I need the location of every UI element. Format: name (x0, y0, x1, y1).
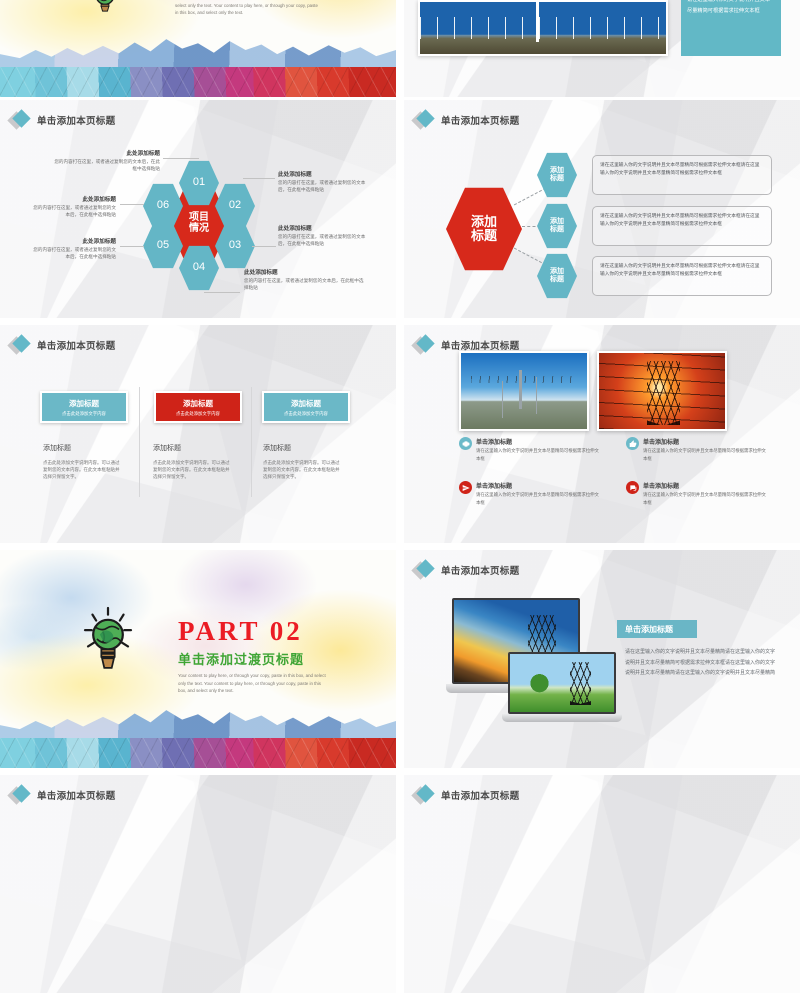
card-3[interactable]: 添加标题 点击此处添加文字内容 (262, 391, 350, 423)
column-2-title: 添加标题 (153, 443, 181, 453)
hexagon-node-01-number: 01 (193, 177, 205, 189)
hexagon-node-02-label: 此处添加标题 (278, 170, 370, 178)
callout-text-3: 请在这里输入你的文字说明并且文本尽量精简可根据需求拉伸文本框请在这里输入你的文字… (592, 256, 772, 296)
column-3-title: 添加标题 (263, 443, 291, 453)
part-subtitle: 单击添加过渡页标题 (178, 649, 304, 668)
slide-hexagon-wheel[interactable]: 单击添加本页标题 项目 情况 01 02 03 04 05 06 此处添加标题 … (0, 100, 396, 318)
card-2[interactable]: 添加标题 点击此处添加文字内容 (154, 391, 242, 423)
slide-top-left-english-body: Your content to play here, or through yo… (175, 0, 320, 17)
transmission-tower-graphic (570, 662, 591, 705)
column-1-title: 添加标题 (43, 443, 71, 453)
icon-row-2-heading: 单击添加标题 (643, 437, 766, 446)
part-english-body: Your content to play here, or through yo… (178, 672, 326, 695)
icon-row-3: 单击添加标题 请在这里输入你的文字说明并且文本尽量精简可根据需求拉伸文本框 (459, 481, 599, 507)
diamond-marker-icon (413, 109, 435, 131)
slide-top-right-teal-box: 请在这里输入你的文字说明并且文本尽量精简可根据需求拉伸文本框 (681, 0, 781, 56)
column-1-body: 点击此处添加文字说明内容。可以通过复制您的文本内容。在此文本框粘贴并选择只保留文… (43, 459, 123, 481)
icon-row-4-body: 请在这里输入你的文字说明并且文本尽量精简可根据需求拉伸文本框 (643, 491, 766, 507)
callout-text-2: 请在这里输入你的文字说明并且文本尽量精简可根据需求拉伸文本框请在这里输入你的文字… (592, 206, 772, 246)
slide-photos-icons[interactable]: 单击添加本页标题 单击添加标题 请在这里输入你的文字说明并且文本尽量精简可根据需… (404, 325, 800, 543)
icon-row-3-body: 请在这里输入你的文字说明并且文本尽量精简可根据需求拉伸文本框 (476, 491, 599, 507)
slide-bottom-left-partial[interactable]: 单击添加本页标题 (0, 775, 396, 993)
turbine-mast (536, 2, 539, 42)
hexagon-node-04-body: 您的内容打在这里，或者通过复制您的文本后，在此框中选择粘贴 (244, 278, 366, 292)
globe-lightbulb-icon (82, 605, 134, 679)
leader-line-03 (252, 246, 276, 247)
thumbs-up-icon (626, 437, 639, 450)
column-divider-2 (251, 387, 252, 497)
diamond-marker-icon (9, 784, 31, 806)
laptop-front-base (502, 714, 622, 722)
callout-hexagon-2-line1: 添加 (550, 218, 564, 226)
icon-row-1-heading: 单击添加标题 (476, 437, 599, 446)
slide-header: 单击添加本页标题 (413, 334, 519, 356)
part-number: PART 02 (178, 616, 303, 647)
slide-header: 单击添加本页标题 (9, 334, 115, 356)
slide-callouts[interactable]: 单击添加本页标题 添加 标题 添加 标题 添加 标题 添加 标题 请在这里输入你… (404, 100, 800, 318)
hexagon-node-03-label: 此处添加标题 (278, 224, 370, 232)
callout-text-1: 请在这里输入你的文字说明并且文本尽量精简可根据需求拉伸文本框请在这里输入你的文字… (592, 155, 772, 195)
slide-part-02-divider[interactable]: PART 02 单击添加过渡页标题 Your content to play h… (0, 550, 396, 768)
card-1-sub: 点击此处添加文字内容 (62, 411, 106, 417)
icon-row-4-heading: 单击添加标题 (643, 481, 766, 490)
diamond-marker-icon (413, 334, 435, 356)
slide-header: 单击添加本页标题 (413, 559, 519, 581)
page-title: 单击添加本页标题 (441, 338, 519, 352)
hexagon-node-05-body: 您的内容打在这里，或者通过复制您的文本后，在此框中选择粘贴 (30, 247, 116, 261)
callout-hexagon-2-line2: 标题 (550, 226, 564, 234)
diamond-marker-icon (9, 334, 31, 356)
wind-farm-photo (418, 0, 668, 56)
triangle-color-band (0, 67, 396, 97)
page-title: 单击添加本页标题 (37, 113, 115, 127)
card-1-heading: 添加标题 (69, 398, 99, 409)
polygon-background (0, 325, 396, 543)
column-3-body: 点击此处添加文字说明内容。可以通过复制您的文本内容。在此文本框粘贴并选择只保留文… (263, 459, 343, 481)
page-title: 单击添加本页标题 (441, 563, 519, 577)
diamond-marker-icon (9, 109, 31, 131)
hexagon-node-02-number: 02 (229, 200, 241, 212)
diamond-marker-icon (413, 784, 435, 806)
callout-hexagon-1-line2: 标题 (550, 175, 564, 183)
substation-photo (459, 351, 589, 431)
slide-header: 单击添加本页标题 (9, 784, 115, 806)
callout-hexagon-1-line1: 添加 (550, 167, 564, 175)
hexagon-node-05-number: 05 (157, 240, 169, 252)
diamond-marker-icon (413, 559, 435, 581)
laptop-title-box: 单击添加标题 (617, 620, 697, 638)
laptop-front-screen (508, 652, 616, 714)
column-divider-1 (139, 387, 140, 497)
hexagon-node-05-label: 此处添加标题 (30, 237, 116, 245)
leader-line-06 (120, 204, 144, 205)
gear-icon (459, 437, 472, 450)
hexagon-node-04-number: 04 (193, 262, 205, 274)
leader-line-05 (120, 246, 144, 247)
card-3-sub: 点击此处添加文字内容 (284, 411, 328, 417)
slide-header: 单击添加本页标题 (413, 109, 519, 131)
hexagon-node-06-number: 06 (157, 200, 169, 212)
card-3-heading: 添加标题 (291, 398, 321, 409)
icon-row-2-body: 请在这里输入你的文字说明并且文本尽量精简可根据需求拉伸文本框 (643, 447, 766, 463)
hexagon-node-02-body: 您的内容打在这里，或者通过复制您的文本后，在此框中选择粘贴 (278, 180, 370, 194)
triangle-color-band (0, 738, 396, 768)
callout-center-line1: 添加 (471, 215, 497, 229)
laptop-body-text: 请在这里输入你的文字说明并且文本尽量精简请在这里输入你的文字说明并且文本尽量精简… (625, 647, 775, 679)
callout-hexagon-3-line2: 标题 (550, 276, 564, 284)
icon-row-1: 单击添加标题 请在这里输入你的文字说明并且文本尽量精简可根据需求拉伸文本框 (459, 437, 599, 463)
center-hexagon-line2: 情况 (189, 224, 209, 235)
slide-top-right-partial[interactable]: 请在这里输入你的文字说明并且文本尽量精简可根据需求拉伸文本框 (404, 0, 800, 97)
speech-bubble-icon (626, 481, 639, 494)
leader-line-01 (163, 158, 199, 159)
hexagon-node-04-label: 此处添加标题 (244, 268, 366, 276)
tree-graphic (529, 674, 550, 697)
card-1[interactable]: 添加标题 点击此处添加文字内容 (40, 391, 128, 423)
globe-lightbulb-icon (90, 0, 120, 16)
slide-top-left-partial[interactable]: Your content to play here, or through yo… (0, 0, 396, 97)
hexagon-node-01-body: 您的内容打在这里，或者通过复制您的文本后，在此框中选择粘贴 (50, 159, 160, 173)
hexagon-node-01-label: 此处添加标题 (50, 149, 160, 157)
slide-header: 单击添加本页标题 (413, 784, 519, 806)
icon-row-1-body: 请在这里输入你的文字说明并且文本尽量精简可根据需求拉伸文本框 (476, 447, 599, 463)
slide-header: 单击添加本页标题 (9, 109, 115, 131)
polygon-background (404, 775, 800, 993)
column-2-body: 点击此处添加文字说明内容。可以通过复制您的文本内容。在此文本框粘贴并选择只保留文… (153, 459, 233, 481)
slide-thumbnail-grid: Your content to play here, or through yo… (0, 0, 800, 800)
slide-bottom-right-partial[interactable]: 单击添加本页标题 (404, 775, 800, 993)
icon-row-2: 单击添加标题 请在这里输入你的文字说明并且文本尽量精简可根据需求拉伸文本框 (626, 437, 766, 463)
callout-center-line2: 标题 (471, 229, 497, 243)
callout-hexagon-3-line1: 添加 (550, 268, 564, 276)
transmission-tower-sunset-photo (597, 351, 727, 431)
green-field-tower-wallpaper (510, 654, 614, 712)
card-2-sub: 点击此处添加文字内容 (176, 411, 220, 417)
slide-laptops[interactable]: 单击添加本页标题 单击添加标题 请在这里输入你的文字说明并且文本尽量精简请在这里… (404, 550, 800, 768)
page-title: 单击添加本页标题 (441, 113, 519, 127)
paper-plane-icon (459, 481, 472, 494)
hexagon-node-06-label: 此处添加标题 (30, 195, 116, 203)
slide-three-cards[interactable]: 单击添加本页标题 添加标题 点击此处添加文字内容 添加标题 点击此处添加文字内容… (0, 325, 396, 543)
leader-line-04 (204, 292, 240, 293)
hexagon-node-03-number: 03 (229, 240, 241, 252)
hexagon-node-03-body: 您的内容打在这里，或者通过复制您的文本后，在此框中选择粘贴 (278, 234, 370, 248)
icon-row-4: 单击添加标题 请在这里输入你的文字说明并且文本尽量精简可根据需求拉伸文本框 (626, 481, 766, 507)
leader-line-02 (243, 178, 275, 179)
hexagon-node-06-body: 您的内容打在这里，或者通过复制您的文本后，在此框中选择粘贴 (30, 205, 116, 219)
icon-row-3-heading: 单击添加标题 (476, 481, 599, 490)
card-2-heading: 添加标题 (183, 398, 213, 409)
polygon-background (0, 775, 396, 993)
page-title: 单击添加本页标题 (37, 338, 115, 352)
